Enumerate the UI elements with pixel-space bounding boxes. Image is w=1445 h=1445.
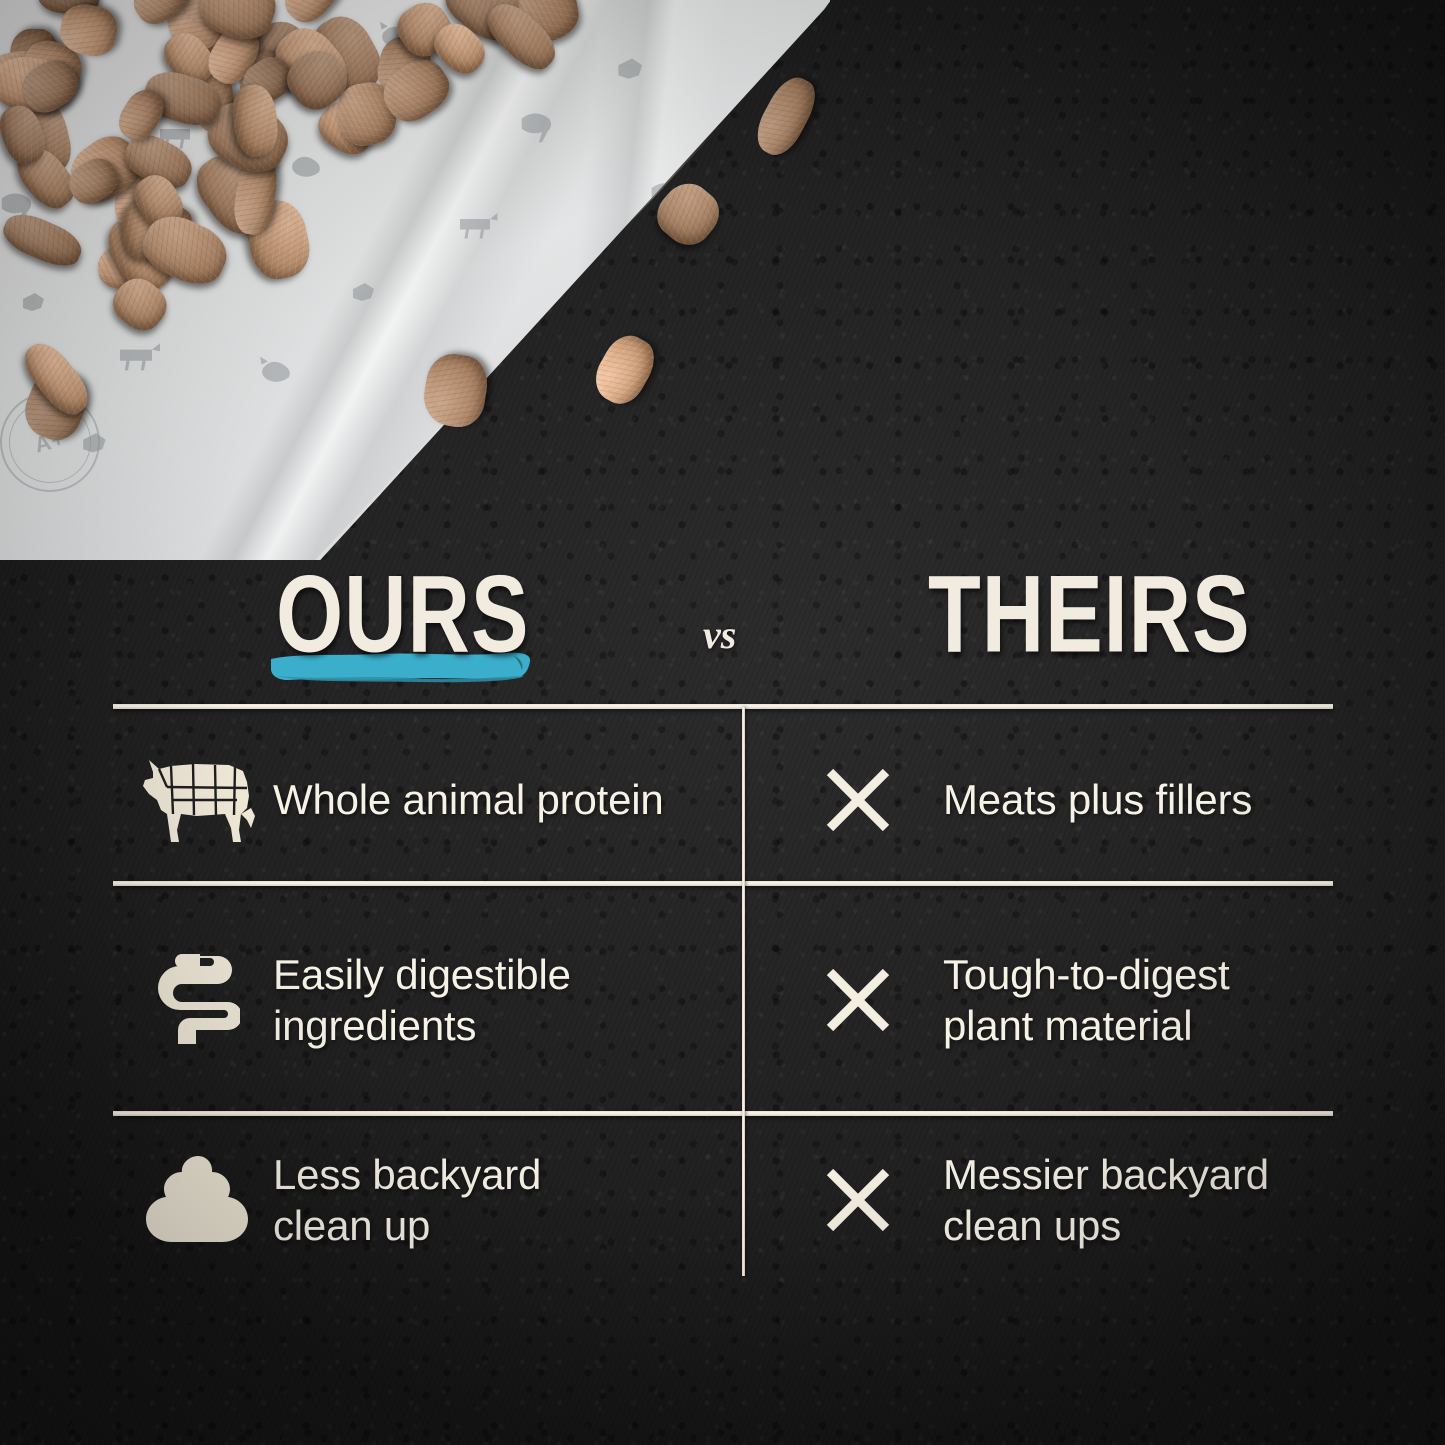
row-label: Tough-to-digest plant material	[943, 949, 1230, 1051]
row-label-line2: ingredients	[273, 1002, 476, 1049]
theirs-heading: THEIRS	[928, 560, 1251, 670]
comparison-infographic: A+ OURS vs THEIRS	[0, 0, 1445, 1445]
kibble-nugget	[586, 327, 662, 411]
row-label-line1: Tough-to-digest	[943, 951, 1230, 998]
headings-row: OURS vs THEIRS	[113, 568, 1333, 698]
row-label-line2: clean ups	[943, 1202, 1121, 1249]
table-row: Meats plus fillers	[773, 718, 1323, 881]
table-row: Less backyard clean up	[123, 1124, 723, 1276]
vs-label: vs	[703, 611, 736, 658]
digestive-tract-icon	[123, 950, 273, 1050]
row-label-line1: Less backyard	[273, 1151, 541, 1198]
comparison-table: Whole animal protein Meats plus fillers	[113, 704, 1333, 1279]
table-row: Easily digestible ingredients	[123, 894, 723, 1106]
row-label: Less backyard clean up	[273, 1149, 541, 1251]
table-divider-2	[113, 1111, 1333, 1116]
row-label-line2: clean up	[273, 1202, 430, 1249]
table-row: Whole animal protein	[123, 718, 723, 881]
row-label-line1: Easily digestible	[273, 951, 571, 998]
poop-icon	[123, 1154, 273, 1246]
row-label-line2: plant material	[943, 1002, 1192, 1049]
table-row: Messier backyard clean ups	[773, 1124, 1323, 1276]
x-mark-icon	[773, 764, 943, 836]
row-label-line1: Messier backyard	[943, 1151, 1269, 1198]
x-mark-icon	[773, 1164, 943, 1236]
product-photo: A+	[0, 0, 830, 560]
x-mark-icon	[773, 964, 943, 1036]
row-label: Messier backyard clean ups	[943, 1149, 1269, 1251]
table-divider-1	[113, 881, 1333, 886]
table-row: Tough-to-digest plant material	[773, 894, 1323, 1106]
row-label: Meats plus fillers	[943, 774, 1252, 825]
table-column-divider	[742, 707, 745, 1276]
row-label: Whole animal protein	[273, 774, 664, 825]
row-label: Easily digestible ingredients	[273, 949, 571, 1051]
ours-heading: OURS	[276, 560, 529, 670]
table-divider-top	[113, 704, 1333, 709]
cow-butcher-cut-icon	[123, 752, 273, 848]
